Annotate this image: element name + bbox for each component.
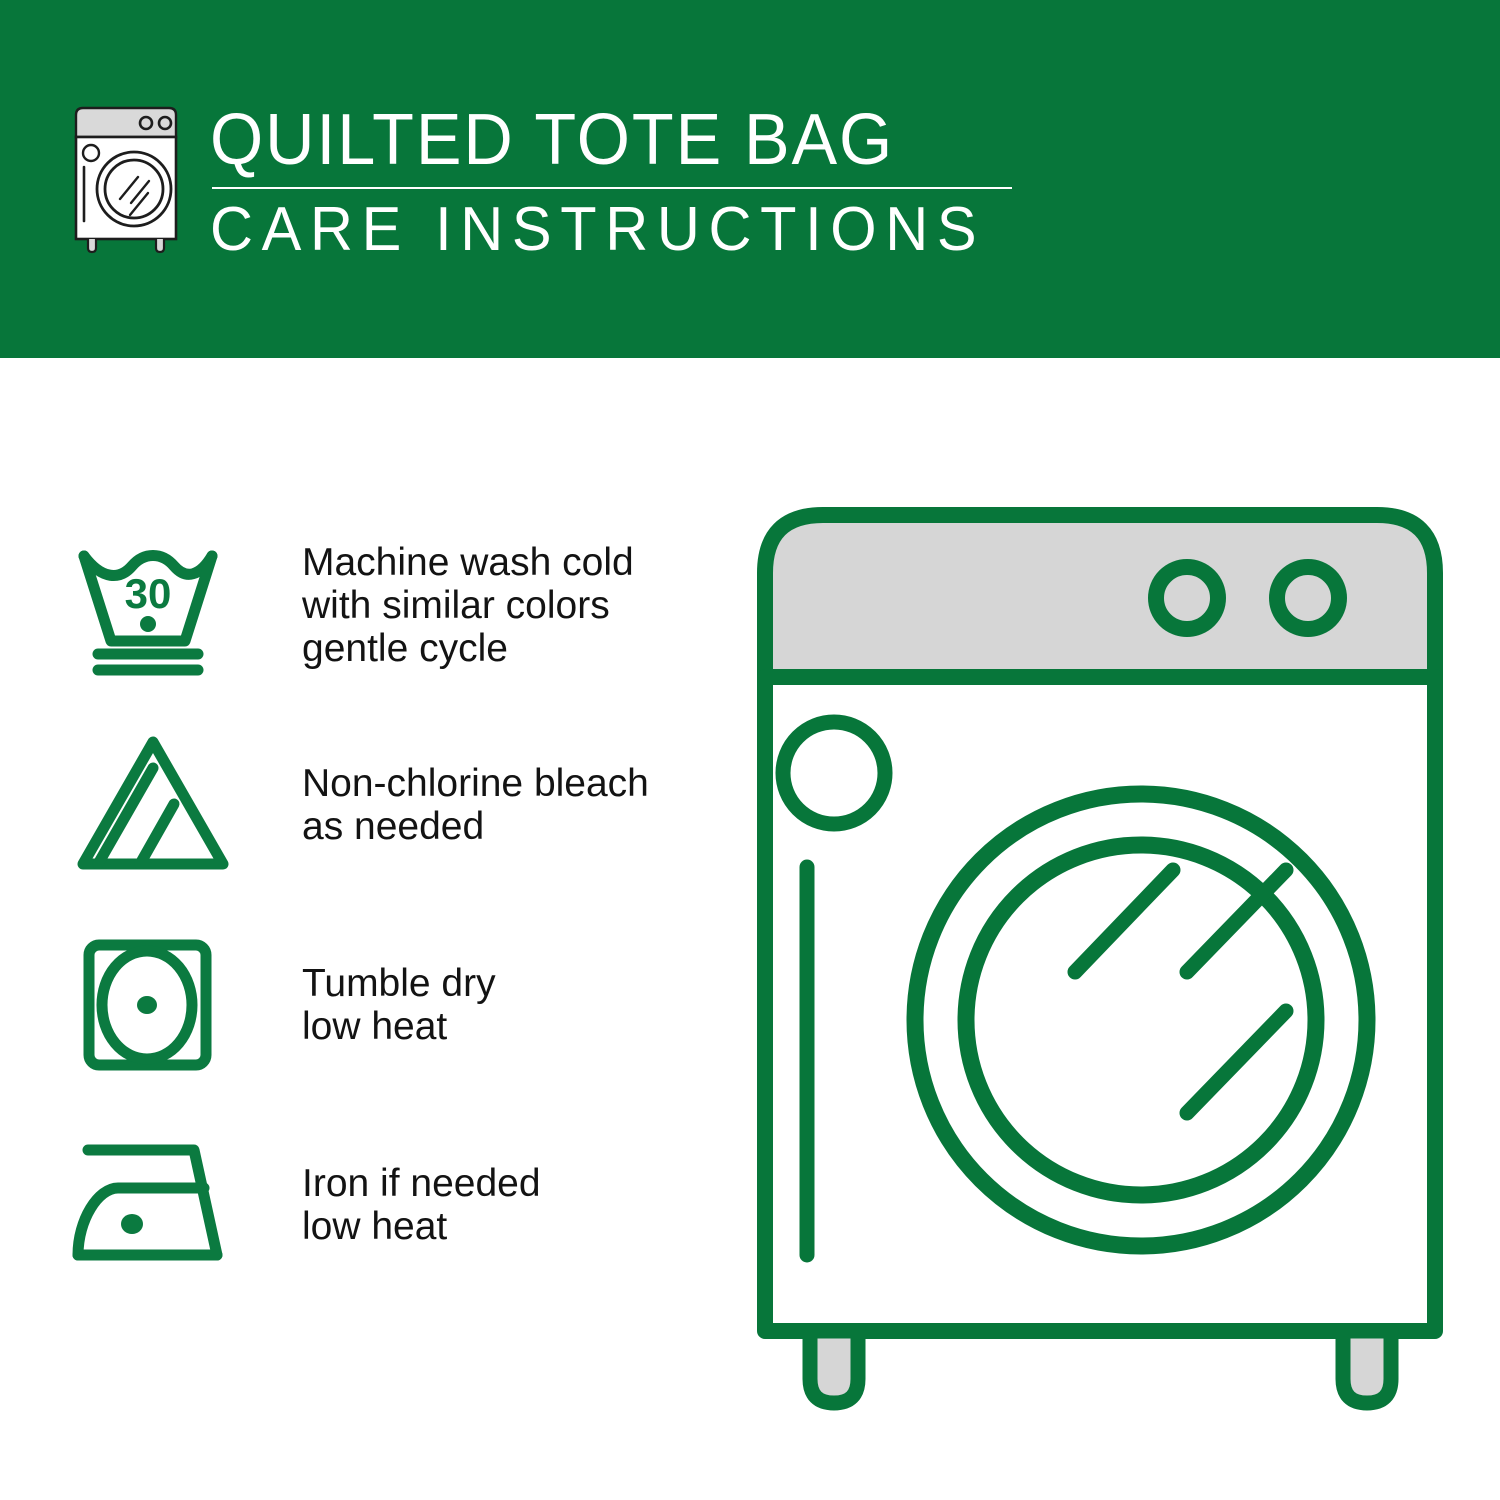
care-item-bleach: Non-chlorine bleach as needed — [70, 705, 730, 905]
wash-temperature-label: 30 — [125, 570, 172, 617]
header-content: QUILTED TOTE BAG CARE INSTRUCTIONS — [62, 103, 1017, 263]
tumble-dry-low-icon — [70, 925, 240, 1085]
title-divider — [212, 187, 1012, 189]
dial-left[interactable] — [1156, 567, 1218, 629]
care-text-line: with similar colors — [302, 584, 634, 627]
care-text-line: Iron if needed — [302, 1162, 541, 1205]
care-text-line: Non-chlorine bleach — [302, 762, 649, 805]
care-item-text: Non-chlorine bleach as needed — [240, 762, 649, 848]
washing-machine-icon — [62, 103, 190, 255]
care-item-tumble-dry: Tumble dry low heat — [70, 905, 730, 1105]
page-title: QUILTED TOTE BAG — [210, 103, 977, 177]
dial-right[interactable] — [1277, 567, 1339, 629]
care-text-line: low heat — [302, 1005, 496, 1048]
care-item-machine-wash: 30 Machine wash cold with similar colors… — [70, 505, 730, 705]
machine-wash-30-icon: 30 — [70, 525, 240, 685]
care-text-line: low heat — [302, 1205, 541, 1248]
care-item-iron: Iron if needed low heat — [70, 1105, 730, 1305]
washing-machine-illustration — [735, 495, 1465, 1415]
care-item-text: Tumble dry low heat — [240, 962, 496, 1048]
care-text-line: gentle cycle — [302, 627, 634, 670]
non-chlorine-bleach-icon — [70, 725, 240, 885]
care-item-text: Machine wash cold with similar colors ge… — [240, 541, 634, 670]
care-text-line: Machine wash cold — [302, 541, 634, 584]
care-text-line: Tumble dry — [302, 962, 496, 1005]
care-text-line: as needed — [302, 805, 649, 848]
page-subtitle: CARE INSTRUCTIONS — [210, 197, 985, 263]
care-item-text: Iron if needed low heat — [240, 1162, 541, 1248]
power-button[interactable] — [783, 722, 885, 824]
care-instructions-list: 30 Machine wash cold with similar colors… — [70, 505, 730, 1305]
iron-low-heat-icon — [70, 1125, 240, 1285]
leg-left — [810, 1331, 858, 1403]
header-banner: QUILTED TOTE BAG CARE INSTRUCTIONS — [0, 0, 1500, 358]
title-stack: QUILTED TOTE BAG CARE INSTRUCTIONS — [210, 103, 1017, 263]
leg-right — [1343, 1331, 1391, 1403]
